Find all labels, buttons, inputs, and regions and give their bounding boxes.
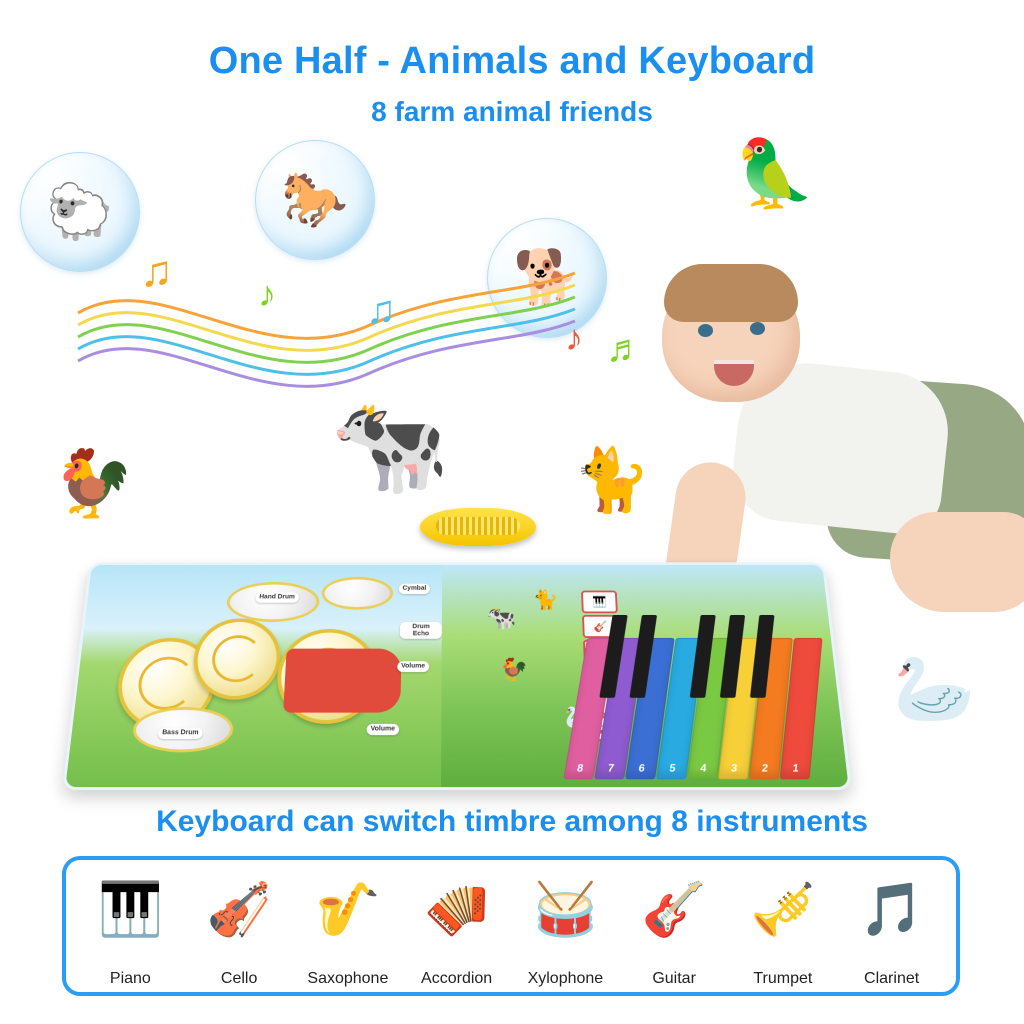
xylophone-icon: 🥁 (511, 884, 620, 970)
baby-eye-right (750, 322, 765, 335)
legend-label-accordion: Accordion (421, 968, 492, 987)
trumpet-icon: 🎺 (729, 884, 838, 970)
baby-leg (890, 512, 1024, 612)
guitar-icon: 🎸 (620, 884, 729, 970)
legend-label-guitar: Guitar (652, 968, 696, 987)
legend-label-trumpet: Trumpet (753, 968, 812, 987)
mat-keyboard-half: 🐄 🐈 🐓 🦢 🎹 🎸 🎺 🎻 🎷 🥁 8 7 6 5 4 (441, 565, 848, 787)
piano-icon: 🎹 (76, 884, 185, 970)
bubble-sheep: 🐑 (20, 152, 140, 272)
note-5-icon: ♬ (606, 330, 644, 368)
page-subtitle: 8 farm animal friends (0, 96, 1024, 128)
legend-item-xylophone: 🥁 Xylophone (511, 884, 620, 988)
legend-label-cello: Cello (221, 968, 257, 987)
cow-icon: 🐄 (330, 398, 450, 494)
music-play-mat: Hand Drum Bass Drum Cymbal Drum Echo Vol… (62, 562, 852, 790)
note-3-icon: ♫ (366, 290, 396, 330)
parrot-icon: 🦜 (733, 140, 815, 206)
duck-icon: 🦢 (893, 655, 975, 721)
mat-cow-icon: 🐄 (486, 606, 517, 629)
cat-icon: 🐈 (573, 450, 650, 512)
legend-label-clarinet: Clarinet (864, 968, 919, 987)
horse-icon: 🐎 (281, 173, 348, 227)
label-bass-drum: Bass Drum (158, 728, 203, 739)
label-volume-up: Volume (397, 661, 429, 672)
drum-pad-2[interactable] (191, 618, 283, 699)
legend-label-xylophone: Xylophone (528, 968, 604, 987)
mat-drum-half: Hand Drum Bass Drum Cymbal Drum Echo Vol… (65, 565, 442, 787)
label-hand-drum: Hand Drum (255, 592, 299, 602)
rooster-icon: 🐓 (52, 450, 134, 516)
legend-label-saxophone: Saxophone (307, 968, 388, 987)
legend-item-accordion: 🪗 Accordion (402, 884, 511, 988)
speaker-grill-icon (436, 517, 520, 535)
legend-item-piano: 🎹 Piano (76, 884, 185, 988)
sheep-icon: 🐑 (46, 185, 113, 239)
cello-icon: 🎻 (185, 884, 294, 970)
saxophone-icon: 🎷 (294, 884, 403, 970)
mat-piano-icon: 🎹 (592, 596, 607, 608)
legend-item-trumpet: 🎺 Trumpet (729, 884, 838, 988)
instrument-legend-panel: 🎹 Piano 🎻 Cello 🎷 Saxophone 🪗 Accordion … (62, 856, 960, 996)
note-2-icon: ♪ (258, 276, 276, 312)
label-cymbal: Cymbal (399, 584, 430, 594)
tom-drum[interactable] (283, 649, 401, 713)
baby-hair (664, 264, 798, 322)
mat-speaker-module (420, 508, 536, 546)
page-title: One Half - Animals and Keyboard (0, 40, 1024, 83)
legend-label-piano: Piano (110, 968, 151, 987)
legend-item-clarinet: 🎵 Clarinet (837, 884, 946, 988)
clarinet-icon: 🎵 (837, 884, 946, 970)
mat-button-piano[interactable]: 🎹 (581, 591, 618, 614)
legend-item-saxophone: 🎷 Saxophone (294, 884, 403, 988)
note-4-icon: ♪ (565, 320, 583, 356)
label-volume-down: Volume (367, 724, 399, 735)
accordion-icon: 🪗 (402, 884, 511, 970)
label-drum-echo: Drum Echo (400, 622, 442, 639)
mat-cat-icon: 🐈 (532, 591, 558, 610)
note-1-icon: ♫ (140, 250, 173, 294)
legend-item-cello: 🎻 Cello (185, 884, 294, 988)
product-infographic: One Half - Animals and Keyboard 8 farm a… (0, 0, 1024, 1024)
mat-keyboard[interactable]: 8 7 6 5 4 3 2 1 (563, 615, 827, 779)
bubble-horse: 🐎 (255, 140, 375, 260)
mat-surface: Hand Drum Bass Drum Cymbal Drum Echo Vol… (62, 562, 852, 790)
baby-eye-left (698, 324, 713, 337)
mat-rooster-icon: 🐓 (500, 659, 529, 681)
cymbal-3[interactable] (321, 577, 394, 610)
legend-item-guitar: 🎸 Guitar (620, 884, 729, 988)
bottom-title: Keyboard can switch timbre among 8 instr… (0, 805, 1024, 839)
